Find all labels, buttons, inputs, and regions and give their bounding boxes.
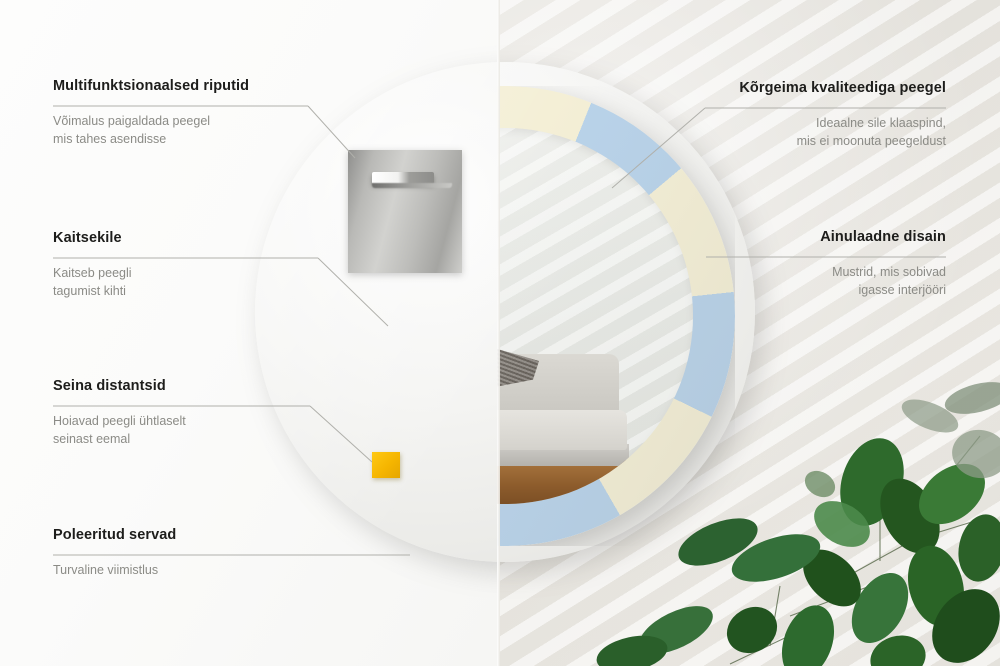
callout-title: Seina distantsid <box>53 378 353 394</box>
callout-ainulaadne-disain: Ainulaadne disain Mustrid, mis sobivad i… <box>646 229 946 299</box>
callout-description: Mustrid, mis sobivad igasse interjööri <box>646 263 946 299</box>
callout-poleeritud-servad: Poleeritud servad Turvaline viimistlus <box>53 527 413 579</box>
callout-description: Võimalus paigaldada peegel mis tahes ase… <box>53 112 353 148</box>
callout-description: Kaitseb peegli tagumist kihti <box>53 264 353 300</box>
infographic-stage: Multifunktsionaalsed riputid Võimalus pa… <box>0 0 1000 666</box>
callout-seina-distantsid: Seina distantsid Hoiavad peegli ühtlasel… <box>53 378 353 448</box>
callout-description: Hoiavad peegli ühtlaselt seinast eemal <box>53 412 353 448</box>
callout-description: Ideaalne sile klaaspind, mis ei moonuta … <box>646 114 946 150</box>
callout-title: Poleeritud servad <box>53 527 413 543</box>
callout-kaitsekile: Kaitsekile Kaitseb peegli tagumist kihti <box>53 230 353 300</box>
callout-multifunktsionaalsed-riputid: Multifunktsionaalsed riputid Võimalus pa… <box>53 78 353 148</box>
callout-title: Multifunktsionaalsed riputid <box>53 78 353 94</box>
callout-korgeima-kvaliteediga-peegel: Kõrgeima kvaliteediga peegel Ideaalne si… <box>646 80 946 150</box>
callout-title: Kõrgeima kvaliteediga peegel <box>646 80 946 96</box>
callout-title: Ainulaadne disain <box>646 229 946 245</box>
callout-description: Turvaline viimistlus <box>53 561 413 579</box>
callout-title: Kaitsekile <box>53 230 353 246</box>
